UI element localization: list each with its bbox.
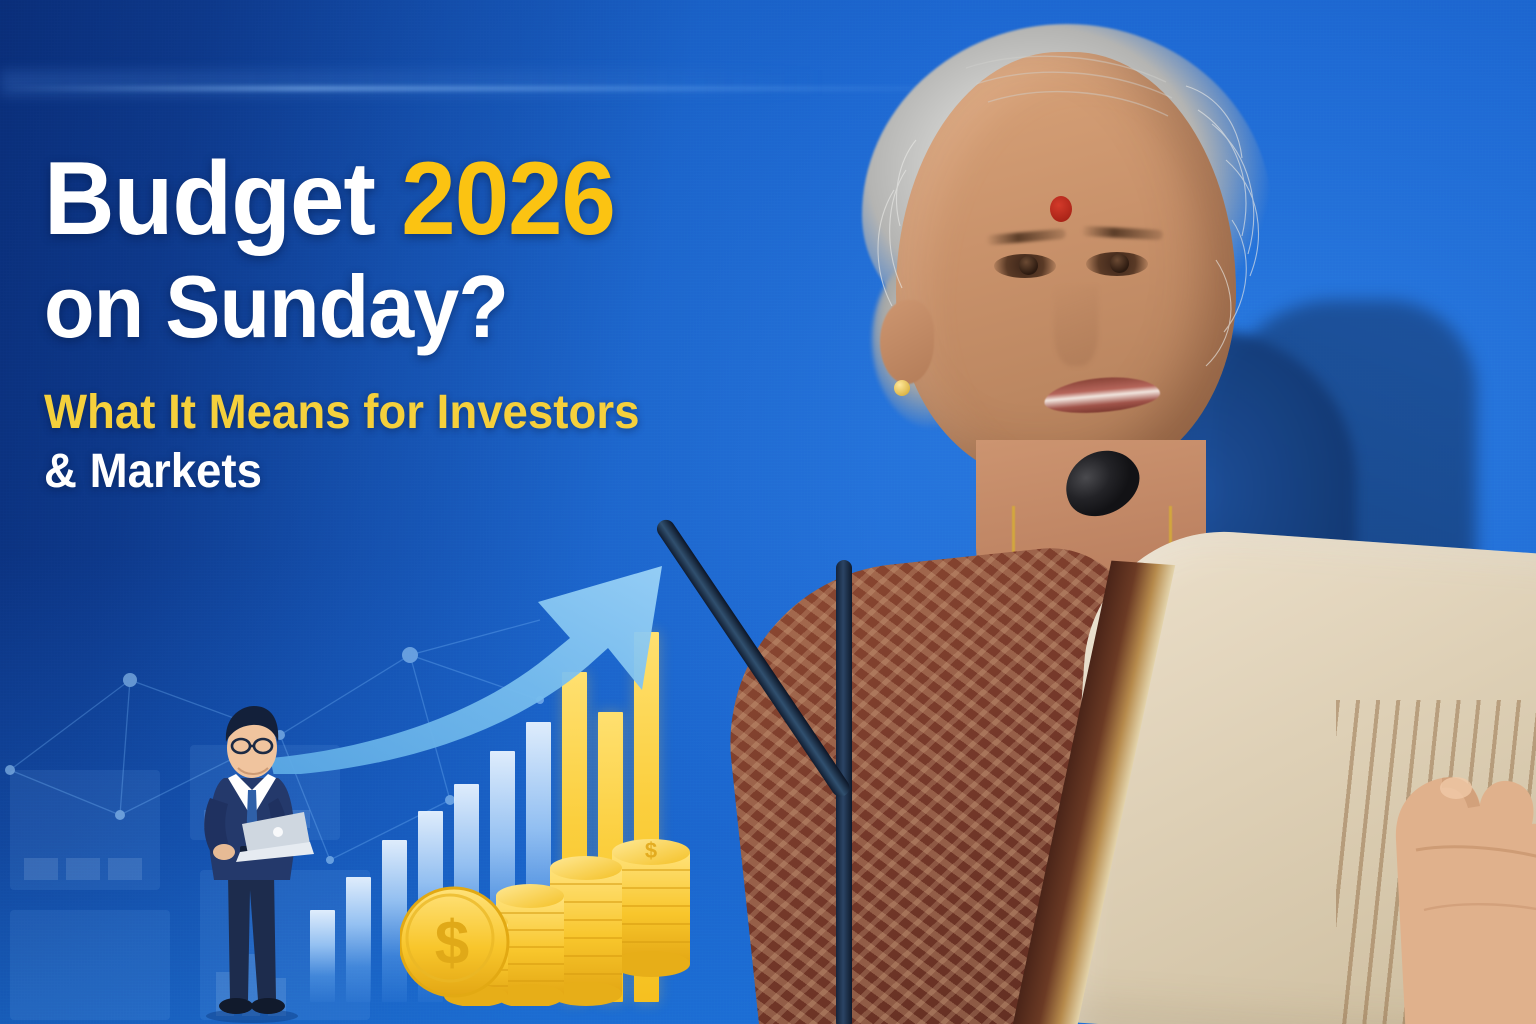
subheadline-line2: & Markets <box>44 443 823 502</box>
chart-bar <box>346 877 371 1002</box>
pupil-right <box>1110 254 1129 273</box>
headline-year: 2026 <box>401 141 615 257</box>
headline-word-budget: Budget <box>44 141 401 257</box>
subheadline: What It Means for Investors & Markets <box>44 384 823 501</box>
raised-hand <box>1256 540 1536 1024</box>
ear <box>880 300 934 384</box>
upward-arrow-icon <box>270 544 750 774</box>
subheadline-line1: What It Means for Investors <box>44 386 639 439</box>
budget-banner: $ <box>0 0 1536 1024</box>
svg-text:$: $ <box>435 909 469 978</box>
svg-text:$: $ <box>645 838 657 863</box>
page-title: Budget 2026 <box>44 148 815 251</box>
minister-portrait-photo <box>776 0 1536 1024</box>
headline-line2: on Sunday? <box>44 263 815 350</box>
nose <box>1054 286 1098 366</box>
businessman-illustration <box>190 694 320 1024</box>
gold-coins-icon: $ <box>400 756 700 1006</box>
bindi <box>1050 196 1072 222</box>
headline-block: Budget 2026 on Sunday? What It Means for… <box>44 148 864 501</box>
pupil-left <box>1019 256 1038 275</box>
earring <box>894 380 910 396</box>
